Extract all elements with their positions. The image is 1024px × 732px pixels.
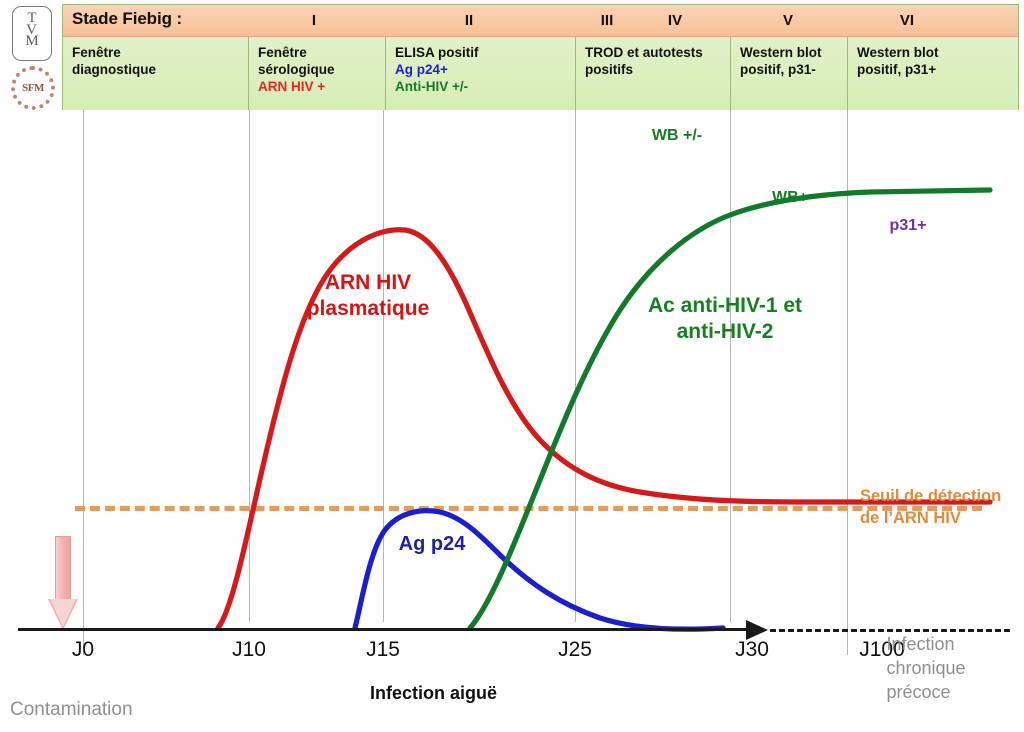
annotation-ac-anti-hiv-line2: anti-HIV-2 xyxy=(648,319,802,345)
sfm-logo-label: SFM xyxy=(15,82,51,94)
fiebig-cell-4-line-2: positifs xyxy=(585,61,730,78)
annotation-wb-positive: WB+ xyxy=(772,188,808,208)
annotation-arn-hiv-line2: plasmatique xyxy=(307,296,430,322)
tvm-logo-letter-3: M xyxy=(13,34,51,49)
fiebig-roman-ii: II xyxy=(465,12,473,29)
fiebig-cell-5-line-2: positif, p31- xyxy=(740,61,847,78)
fiebig-stage-cell-1: Fenêtrediagnostique xyxy=(63,37,249,110)
fiebig-cell-1-line-1: Fenêtre xyxy=(72,44,248,61)
time-axis-dashed-extension xyxy=(770,629,1010,632)
annotation-wb-partial: WB +/- xyxy=(652,126,702,146)
fiebig-roman-v: V xyxy=(783,12,793,29)
fiebig-roman-iv: IV xyxy=(668,12,682,29)
fiebig-stage-row: Stade Fiebig : IIIIIIIVVVI xyxy=(63,5,1018,37)
fiebig-stage-cell-2: FenêtresérologiqueARN HIV + xyxy=(249,37,386,110)
fiebig-cell-2-line-1: Fenêtre xyxy=(258,44,385,61)
fiebig-cell-4-line-1: TROD et autotests xyxy=(585,44,730,61)
annotation-arn-hiv: ARN HIV plasmatique xyxy=(307,270,430,321)
fiebig-stage-cell-3: ELISA positifAg p24+Anti-HIV +/- xyxy=(386,37,576,110)
annotation-threshold-line2: de l’ARN HIV xyxy=(860,507,1001,529)
fiebig-cell-6-line-1: Western blot xyxy=(857,44,1020,61)
curve-ag-p24 xyxy=(355,511,723,629)
tick-label-j30: J30 xyxy=(735,638,769,662)
fiebig-cell-1-line-2: diagnostique xyxy=(72,61,248,78)
fiebig-cell-3-line-1: ELISA positif xyxy=(395,44,575,61)
fiebig-cell-2-line-2: sérologique xyxy=(258,61,385,78)
fiebig-cell-3-line-3: Anti-HIV +/- xyxy=(395,78,575,95)
tick-label-j10: J10 xyxy=(232,638,266,662)
tick-label-j0: J0 xyxy=(72,638,94,662)
axis-end-label-line-3: précoce xyxy=(886,681,965,705)
annotation-detection-threshold: Seuil de détection de l’ARN HIV xyxy=(860,485,1001,530)
annotation-ac-anti-hiv-line1: Ac anti-HIV-1 et xyxy=(648,293,802,319)
curve-ac-anti-hiv xyxy=(470,190,990,628)
fiebig-stages-figure: T V M SFM Stade Fiebig : IIIIIIIVVVI Fen… xyxy=(0,0,1024,732)
fiebig-cell-2-line-3: ARN HIV + xyxy=(258,78,385,95)
annotation-ag-p24: Ag p24 xyxy=(399,532,466,556)
axis-end-label-line-2: chronique xyxy=(886,657,965,681)
tvm-logo: T V M xyxy=(12,6,52,61)
annotation-ac-anti-hiv: Ac anti-HIV-1 et anti-HIV-2 xyxy=(648,293,802,344)
annotation-threshold-line1: Seuil de détection xyxy=(860,485,1001,507)
axis-end-label: Infectionchroniqueprécoce xyxy=(886,633,965,704)
fiebig-stage-table: Stade Fiebig : IIIIIIIVVVI Fenêtrediagno… xyxy=(62,4,1019,110)
annotation-p31-positive: p31+ xyxy=(890,216,927,236)
fiebig-stage-cell-5: Western blotpositif, p31- xyxy=(731,37,848,110)
time-axis-line xyxy=(18,628,758,631)
logo-block: T V M SFM xyxy=(6,4,58,112)
sfm-logo: SFM xyxy=(11,66,55,110)
fiebig-roman-iii: III xyxy=(601,12,614,29)
marker-kinetics-plot: J0J10J15J25J30J100 ARN HIV plasmatique A… xyxy=(0,110,1024,732)
time-axis-arrow-icon xyxy=(746,620,768,640)
fiebig-cell-6-line-2: positif, p31+ xyxy=(857,61,1020,78)
fiebig-cell-3-line-2: Ag p24+ xyxy=(395,61,575,78)
tick-label-j15: J15 xyxy=(366,638,400,662)
axis-phase-label-acute: Infection aiguë xyxy=(370,683,497,705)
fiebig-stage-cell-6: Western blotpositif, p31+ xyxy=(848,37,1020,110)
axis-end-label-line-1: Infection xyxy=(886,633,965,657)
fiebig-stage-cell-4: TROD et autotestspositifs xyxy=(576,37,731,110)
fiebig-cell-5-line-1: Western blot xyxy=(740,44,847,61)
fiebig-roman-i: I xyxy=(312,12,316,29)
fiebig-description-row: FenêtrediagnostiqueFenêtresérologiqueARN… xyxy=(63,37,1018,110)
annotation-arn-hiv-line1: ARN HIV xyxy=(307,270,430,296)
axis-start-label: Contamination xyxy=(10,698,133,721)
contamination-arrow-icon xyxy=(48,536,78,630)
fiebig-roman-vi: VI xyxy=(900,12,914,29)
tick-label-j25: J25 xyxy=(558,638,592,662)
fiebig-stage-title: Stade Fiebig : xyxy=(72,9,182,29)
